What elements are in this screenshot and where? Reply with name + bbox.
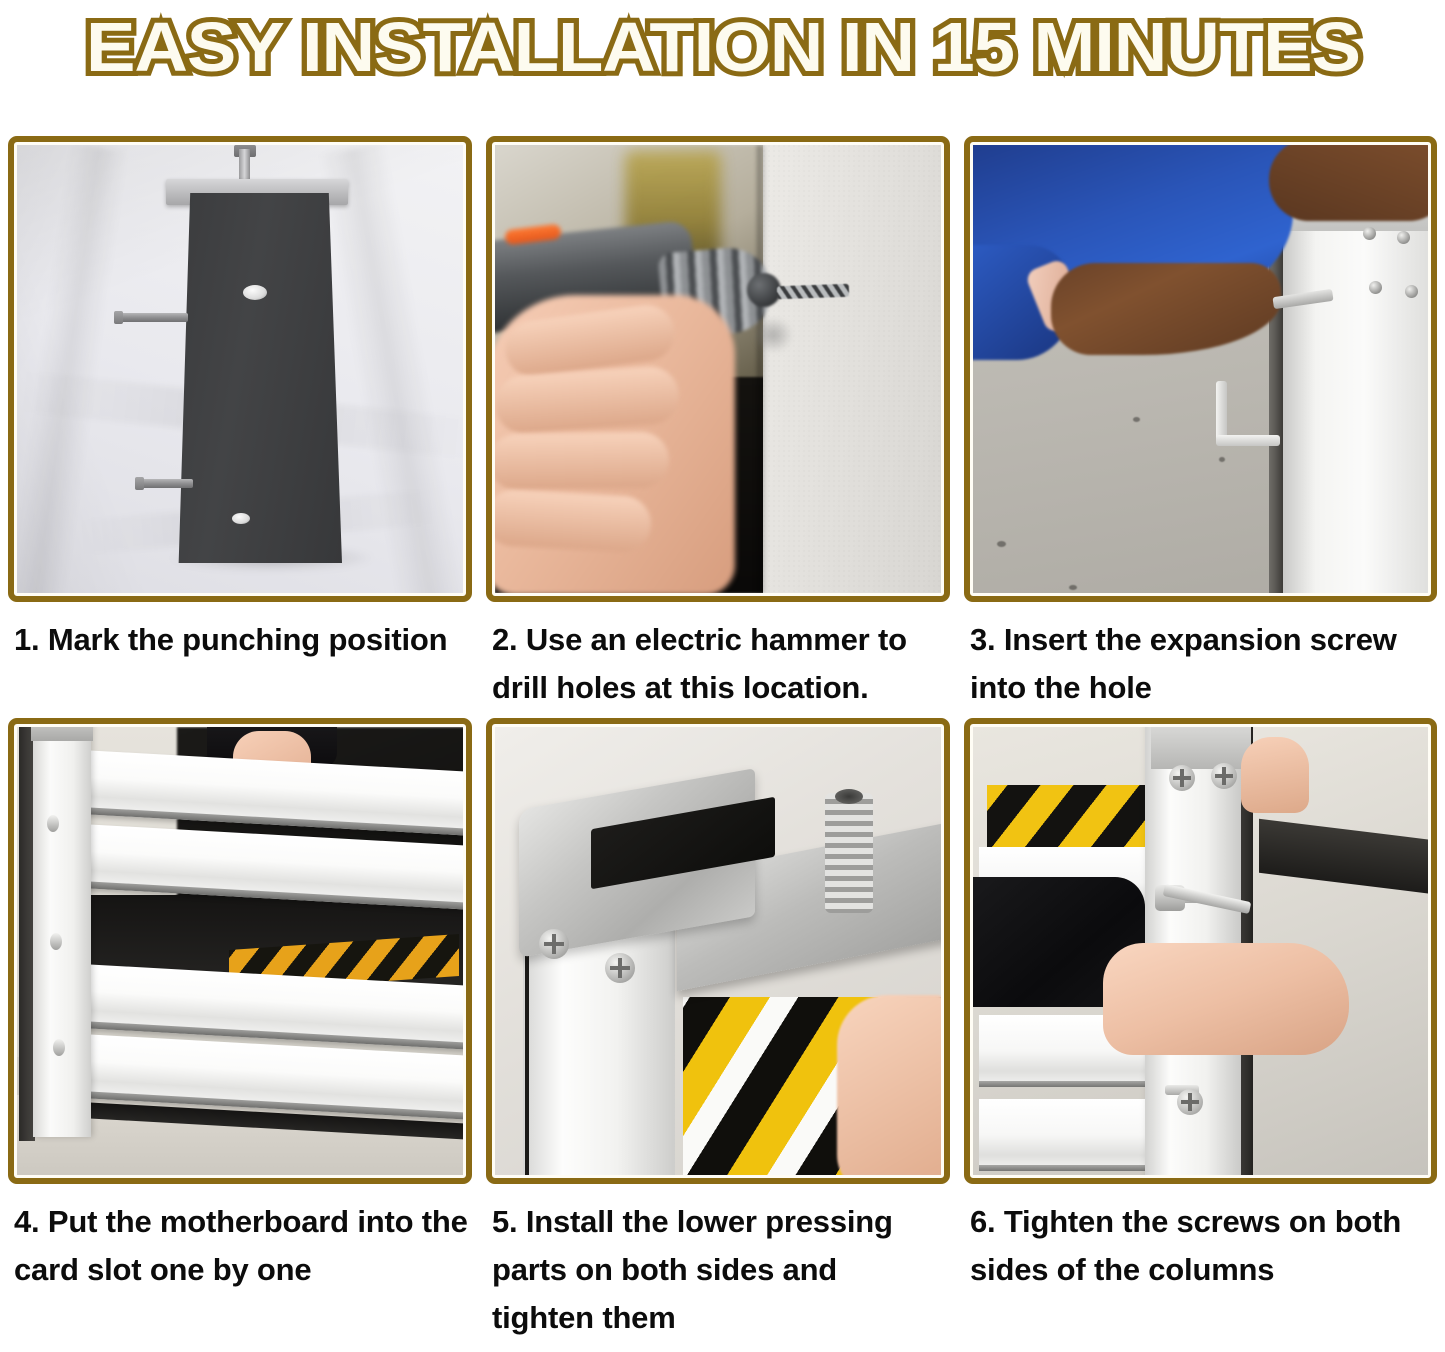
step-6-caption: 6. Tighten the screws on both sides of t… — [964, 1184, 1437, 1294]
installation-steps-grid: 1. Mark the punching position — [8, 136, 1437, 1342]
step-card-6: 6. Tighten the screws on both sides of t… — [964, 718, 1437, 1342]
step-3-caption: 3. Insert the expansion screw into the h… — [964, 602, 1437, 712]
step-4-photo-frame — [8, 718, 472, 1184]
step-card-2: 2. Use an electric hammer to drill holes… — [486, 136, 950, 712]
step-card-3: 3. Insert the expansion screw into the h… — [964, 136, 1437, 712]
step-1-photo — [17, 145, 463, 593]
step-4-photo — [17, 727, 463, 1175]
step-2-caption: 2. Use an electric hammer to drill holes… — [486, 602, 950, 712]
step-5-photo — [495, 727, 941, 1175]
page-title: EASY INSTALLATION IN 15 MINUTES — [85, 11, 1359, 83]
step-card-4: 4. Put the motherboard into the card slo… — [8, 718, 472, 1342]
step-card-1: 1. Mark the punching position — [8, 136, 472, 712]
step-1-photo-frame — [8, 136, 472, 602]
step-4-caption: 4. Put the motherboard into the card slo… — [8, 1184, 472, 1294]
step-5-caption: 5. Install the lower pressing parts on b… — [486, 1184, 950, 1342]
step-6-photo-frame — [964, 718, 1437, 1184]
step-6-photo — [973, 727, 1428, 1175]
step-2-photo-frame — [486, 136, 950, 602]
step-1-caption: 1. Mark the punching position — [8, 602, 472, 664]
step-5-photo-frame — [486, 718, 950, 1184]
step-card-5: 5. Install the lower pressing parts on b… — [486, 718, 950, 1342]
step-2-photo — [495, 145, 941, 593]
step-3-photo-frame — [964, 136, 1437, 602]
step-3-photo — [973, 145, 1428, 593]
page-title-bar: EASY INSTALLATION IN 15 MINUTES — [0, 0, 1445, 92]
